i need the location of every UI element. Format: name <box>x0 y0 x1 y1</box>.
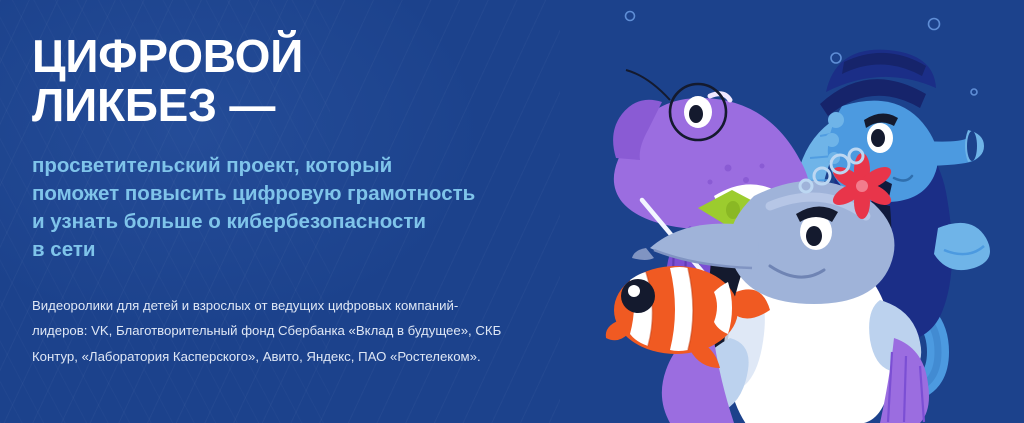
hero-subtitle: просветительский проект, который поможет… <box>32 152 542 265</box>
clownfish-eye <box>621 279 655 313</box>
hero-banner: ЦИФРОВОЙ ЛИКБЕЗ — просветительский проек… <box>0 0 1024 423</box>
hero-description: Видеоролики для детей и взрослых от веду… <box>32 293 532 370</box>
page-title: ЦИФРОВОЙ ЛИКБЕЗ — <box>32 32 552 130</box>
hero-text-column: ЦИФРОВОЙ ЛИКБЕЗ — просветительский проек… <box>32 32 552 370</box>
underwater-characters-illustration <box>594 0 1024 423</box>
